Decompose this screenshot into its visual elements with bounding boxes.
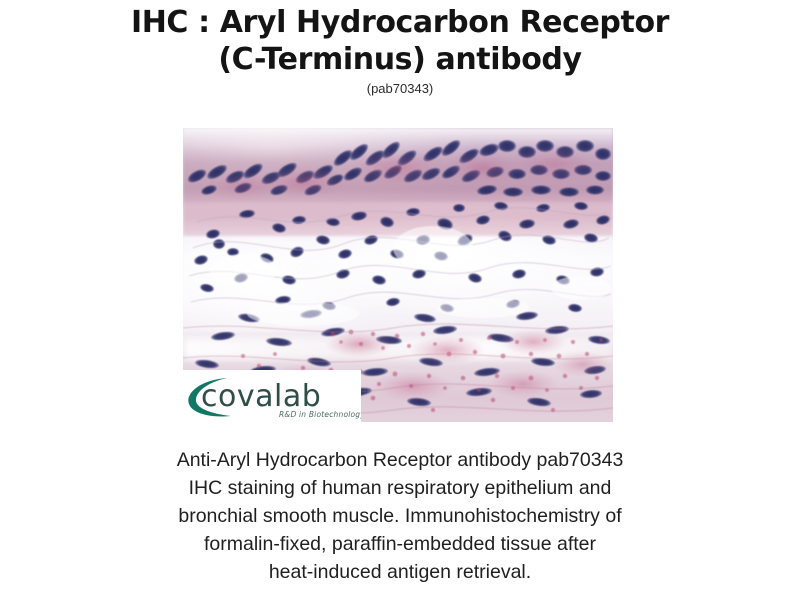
ihc-micrograph: covalab R&D in Biotechnology [183,128,613,422]
covalab-logo-svg: covalab R&D in Biotechnology [183,370,361,422]
title-line-2: (C-Terminus) antibody [0,41,800,78]
epithelial-nuclei [186,137,611,200]
caption-line-2: IHC staining of human respiratory epithe… [60,474,740,502]
logo-wordmark: covalab [201,379,321,414]
logo-tagline: R&D in Biotechnology [279,410,361,419]
page-title: IHC : Aryl Hydrocarbon Receptor (C-Termi… [0,4,800,97]
caption-line-4: formalin-fixed, paraffin-embedded tissue… [60,530,740,558]
micrograph-canvas: covalab R&D in Biotechnology [183,128,613,422]
figure-caption: Anti-Aryl Hydrocarbon Receptor antibody … [60,446,740,586]
covalab-logo: covalab R&D in Biotechnology [183,370,361,422]
catalog-number: (pab70343) [0,80,800,97]
caption-line-1: Anti-Aryl Hydrocarbon Receptor antibody … [60,446,740,474]
caption-line-3: bronchial smooth muscle. Immunohistochem… [60,502,740,530]
caption-line-5: heat-induced antigen retrieval. [60,558,740,586]
title-line-1: IHC : Aryl Hydrocarbon Receptor [0,4,800,41]
